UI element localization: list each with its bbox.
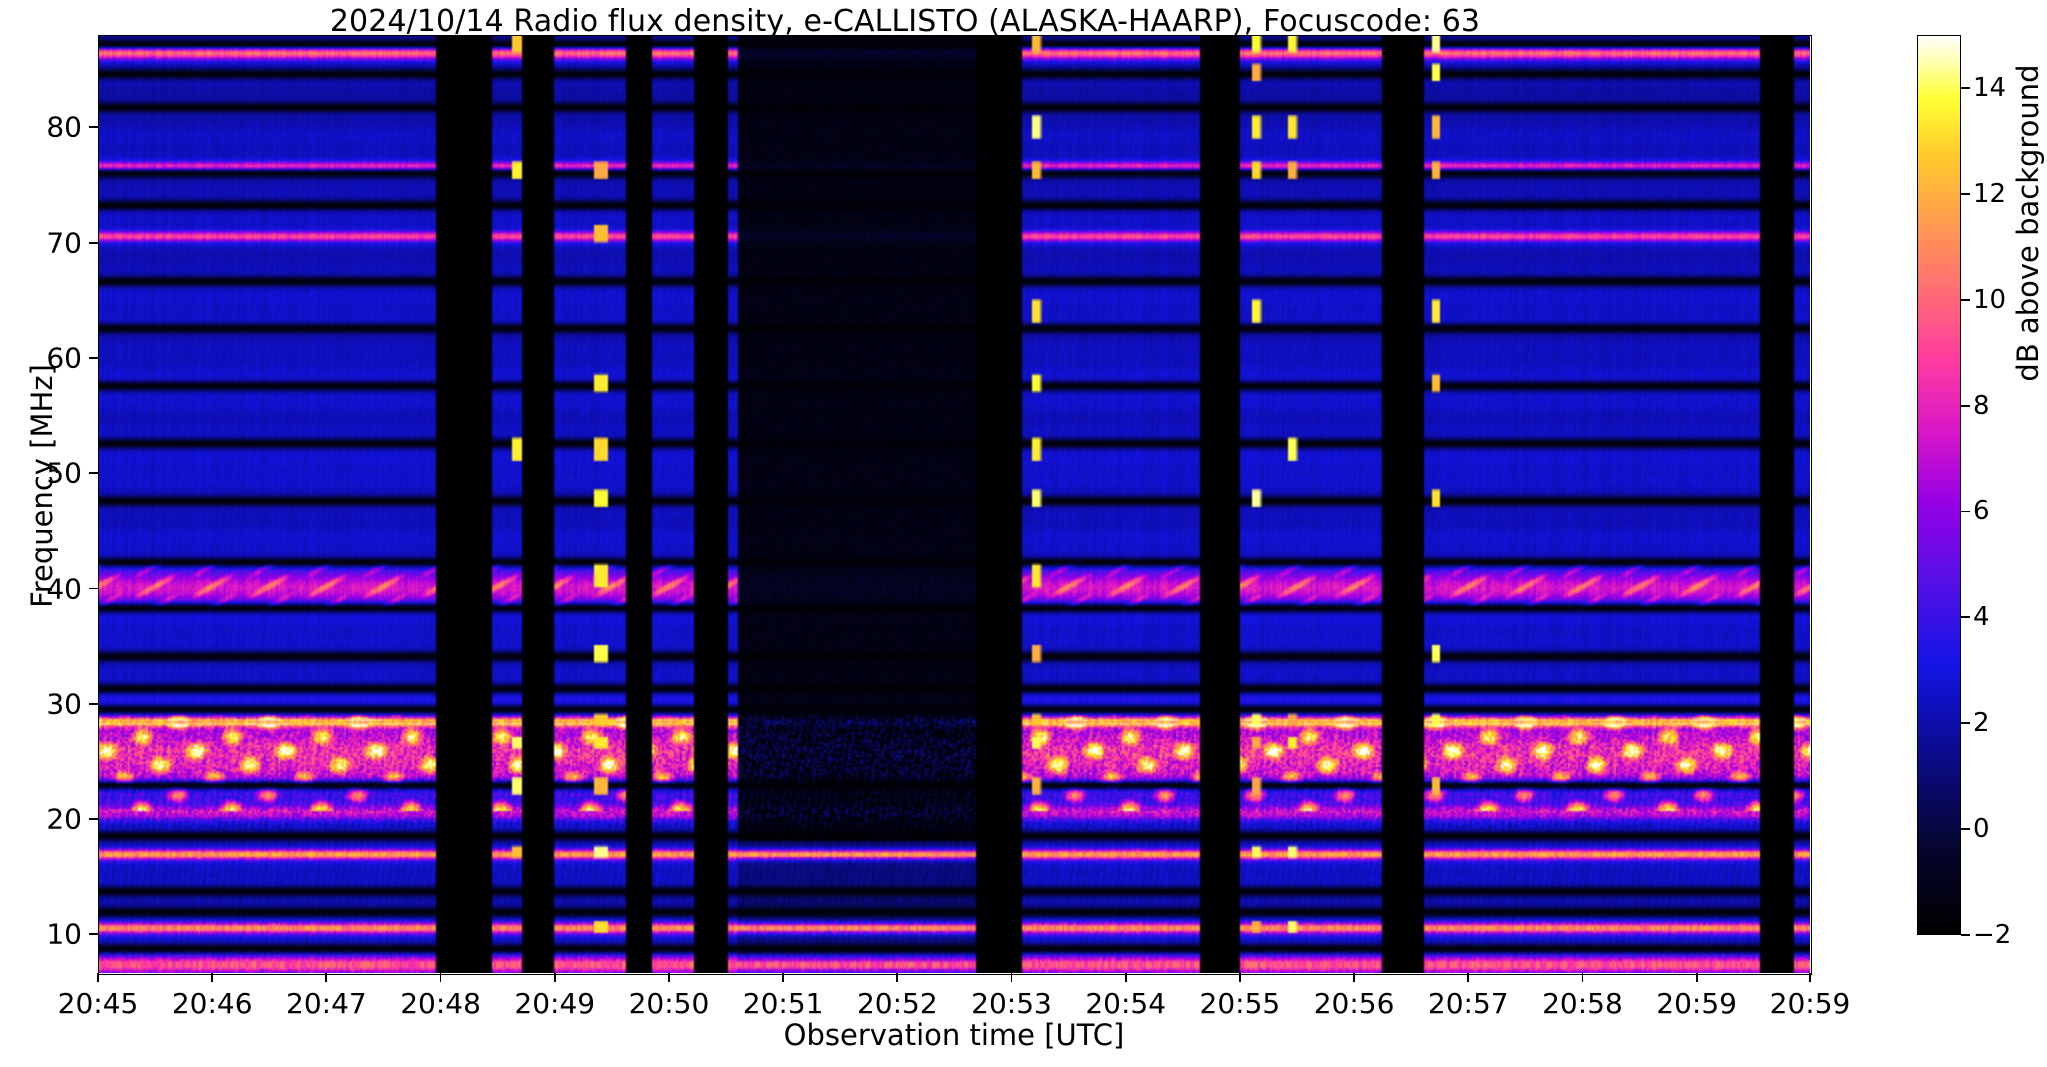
colorbar-tick-label: 14 (1973, 73, 2006, 103)
colorbar-label: dB above background (2011, 0, 2045, 503)
colorbar-tick-mark (1961, 299, 1970, 301)
x-tick-mark (668, 973, 670, 982)
x-tick-mark (1125, 973, 1127, 982)
x-tick-label: 20:54 (1085, 987, 1166, 1020)
x-tick-mark (1582, 973, 1584, 982)
x-tick-label: 20:56 (1314, 987, 1395, 1020)
spectrogram-plot[interactable] (98, 35, 1810, 973)
colorbar-tick-label: 10 (1973, 285, 2006, 315)
colorbar-tick-mark (1961, 87, 1970, 89)
y-tick-label: 10 (46, 918, 82, 951)
x-axis-label: Observation time [UTC] (98, 1018, 1810, 1052)
x-tick-label: 20:47 (286, 987, 367, 1020)
x-tick-mark (782, 973, 784, 982)
y-tick-mark (89, 357, 98, 359)
colorbar-tick-mark (1961, 828, 1970, 830)
x-tick-mark (1353, 973, 1355, 982)
x-tick-label: 20:59 (1656, 987, 1737, 1020)
x-tick-label: 20:55 (1200, 987, 1281, 1020)
colorbar-tick-mark (1961, 616, 1970, 618)
y-tick-label: 30 (46, 687, 82, 720)
x-tick-mark (325, 973, 327, 982)
spectrogram-image (98, 35, 1810, 973)
x-tick-mark (896, 973, 898, 982)
y-tick-mark (89, 703, 98, 705)
x-tick-label: 20:48 (400, 987, 481, 1020)
colorbar-tick-label: −2 (1973, 920, 2011, 950)
y-tick-mark (89, 818, 98, 820)
y-tick-label: 40 (46, 572, 82, 605)
x-tick-mark (211, 973, 213, 982)
y-tick-mark (89, 242, 98, 244)
x-tick-label: 20:50 (629, 987, 710, 1020)
x-tick-label: 20:53 (971, 987, 1052, 1020)
y-tick-mark (89, 126, 98, 128)
colorbar-tick-mark (1961, 193, 1970, 195)
colorbar-tick-label: 0 (1973, 814, 1990, 844)
x-tick-mark (554, 973, 556, 982)
y-tick-label: 70 (46, 226, 82, 259)
colorbar-tick-mark (1961, 511, 1970, 513)
x-tick-label: 20:58 (1542, 987, 1623, 1020)
y-tick-mark (89, 588, 98, 590)
x-tick-label: 20:59 (1770, 987, 1851, 1020)
figure-title: 2024/10/14 Radio flux density, e-CALLIST… (0, 4, 1810, 39)
y-tick-label: 60 (46, 341, 82, 374)
figure-root: 2024/10/14 Radio flux density, e-CALLIST… (0, 0, 2047, 1067)
y-tick-label: 50 (46, 457, 82, 490)
x-tick-label: 20:57 (1428, 987, 1509, 1020)
colorbar-gradient (1918, 36, 1960, 934)
x-tick-mark (1467, 973, 1469, 982)
x-tick-mark (440, 973, 442, 982)
x-tick-label: 20:49 (514, 987, 595, 1020)
x-tick-mark (1809, 973, 1811, 982)
x-tick-mark (1011, 973, 1013, 982)
y-tick-mark (89, 472, 98, 474)
y-tick-label: 20 (46, 803, 82, 836)
colorbar[interactable] (1917, 35, 1961, 935)
y-tick-mark (89, 933, 98, 935)
colorbar-tick-label: 2 (1973, 708, 1990, 738)
x-tick-label: 20:45 (58, 987, 139, 1020)
colorbar-tick-mark (1961, 722, 1970, 724)
colorbar-tick-label: 6 (1973, 496, 1990, 526)
colorbar-tick-mark (1961, 405, 1970, 407)
y-tick-label: 80 (46, 111, 82, 144)
colorbar-tick-label: 8 (1973, 391, 1990, 421)
colorbar-tick-label: 4 (1973, 602, 1990, 632)
x-tick-label: 20:46 (172, 987, 253, 1020)
x-tick-mark (1239, 973, 1241, 982)
x-tick-label: 20:51 (743, 987, 824, 1020)
colorbar-tick-label: 12 (1973, 179, 2006, 209)
x-tick-mark (1696, 973, 1698, 982)
x-tick-mark (97, 973, 99, 982)
colorbar-tick-mark (1961, 934, 1970, 936)
x-tick-label: 20:52 (857, 987, 938, 1020)
